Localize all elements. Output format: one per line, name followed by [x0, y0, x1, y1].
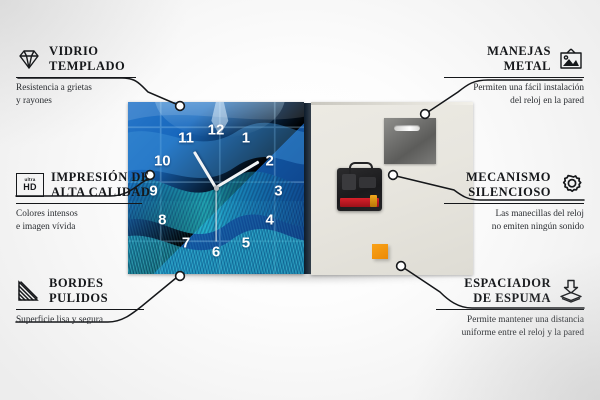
feature-title: BORDES PULIDOS	[49, 276, 108, 306]
feature-desc-line1: Colores intensos	[16, 208, 156, 220]
callout-marker-mecanismo	[389, 171, 398, 180]
feature-desc-line1: Resistencia a grietas	[16, 82, 156, 94]
feature-title-line1: IMPRESIÓN DE	[51, 170, 150, 185]
feature-title-line2: METAL	[487, 59, 551, 74]
feature-rule	[16, 309, 144, 311]
infographic-canvas: 12 1 2 3 4 5 6 7 8 9 10 11	[0, 0, 600, 400]
feature-title-line2: PULIDOS	[49, 291, 108, 306]
ultra-hd-icon-bottom-text: HD	[23, 183, 36, 192]
feature-rule	[444, 77, 584, 79]
gear-icon	[558, 173, 584, 197]
feature-desc-line2: e imagen vívida	[16, 221, 156, 233]
feature-title-line2: ALTA CALIDAD	[51, 185, 150, 200]
feature-bordes-pulidos[interactable]: BORDES PULIDOS Superficie lisa y segura	[16, 276, 166, 327]
diamond-icon	[16, 47, 42, 71]
feature-espaciador-espuma[interactable]: ESPACIADOR DE ESPUMA Permite mantener un…	[436, 276, 584, 339]
feature-manejas-metal[interactable]: MANEJAS METAL Permiten una fácil instala…	[444, 44, 584, 107]
feature-desc-line2: del reloj en la pared	[444, 95, 584, 107]
feature-description: Permite mantener una distancia uniforme …	[436, 314, 584, 339]
feature-title: MANEJAS METAL	[487, 44, 551, 74]
feature-mecanismo-silencioso[interactable]: MECANISMO SILENCIOSO Las manecillas del …	[444, 170, 584, 233]
feature-impresion-alta-calidad[interactable]: ultra HD IMPRESIÓN DE ALTA CALIDAD Color…	[16, 170, 156, 233]
feature-description: Las manecillas del reloj no emiten ningú…	[444, 208, 584, 233]
feature-title-line2: SILENCIOSO	[466, 185, 551, 200]
callout-marker-bordes	[176, 272, 185, 281]
feature-vidrio-templado[interactable]: VIDRIO TEMPLADO Resistencia a grietas y …	[16, 44, 156, 107]
ultra-hd-icon: ultra HD	[16, 173, 44, 197]
feature-rule	[16, 77, 136, 79]
feature-rule	[16, 203, 142, 205]
feature-title-line1: BORDES	[49, 276, 108, 291]
callout-marker-manejas	[421, 110, 430, 119]
feature-desc-line1: Superficie lisa y segura	[16, 314, 166, 326]
feature-title-line2: DE ESPUMA	[464, 291, 551, 306]
feature-description: Permiten una fácil instalación del reloj…	[444, 82, 584, 107]
feature-title: IMPRESIÓN DE ALTA CALIDAD	[51, 170, 150, 200]
feature-title-line1: MECANISMO	[466, 170, 551, 185]
feature-rule	[436, 309, 584, 311]
feature-title-line1: MANEJAS	[487, 44, 551, 59]
feature-title-line1: VIDRIO	[49, 44, 125, 59]
feature-title-line1: ESPACIADOR	[464, 276, 551, 291]
feature-desc-line2: no emiten ningún sonido	[444, 221, 584, 233]
callout-marker-vidrio-templado	[176, 102, 185, 111]
feature-desc-line1: Permite mantener una distancia	[436, 314, 584, 326]
feature-desc-line2: uniforme entre el reloj y la pared	[436, 327, 584, 339]
feature-desc-line1: Permiten una fácil instalación	[444, 82, 584, 94]
hanging-picture-frame-icon	[558, 47, 584, 71]
callout-marker-espaciador	[397, 262, 406, 271]
feature-title-line2: TEMPLADO	[49, 59, 125, 74]
feature-desc-line1: Las manecillas del reloj	[444, 208, 584, 220]
feature-rule	[444, 203, 584, 205]
foam-spacer-icon	[558, 279, 584, 303]
polished-edge-icon	[16, 279, 42, 303]
feature-title: ESPACIADOR DE ESPUMA	[464, 276, 551, 306]
feature-description: Colores intensos e imagen vívida	[16, 208, 156, 233]
feature-title: VIDRIO TEMPLADO	[49, 44, 125, 74]
feature-description: Resistencia a grietas y rayones	[16, 82, 156, 107]
feature-desc-line2: y rayones	[16, 95, 156, 107]
feature-title: MECANISMO SILENCIOSO	[466, 170, 551, 200]
feature-description: Superficie lisa y segura	[16, 314, 166, 326]
